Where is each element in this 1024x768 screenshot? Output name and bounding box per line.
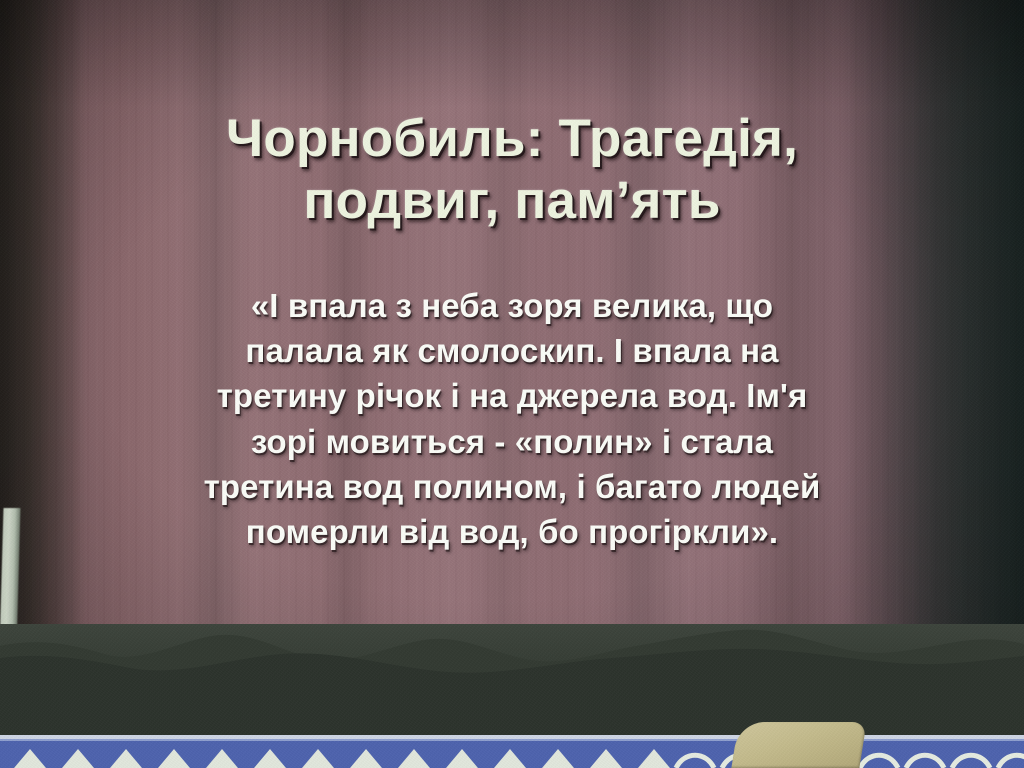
page-title: Чорнобиль: Трагедія, подвиг, пам’ять: [0, 108, 1024, 232]
quote-block: «І впала з неба зоря велика, що палала я…: [0, 283, 1024, 554]
quote-line: померли від вод, бо прогіркли».: [0, 509, 1024, 554]
quote-line: третина вод полином, і багато людей: [0, 464, 1024, 509]
curtain-hem-band: [0, 624, 1024, 736]
quote-line: зорі мовиться - «полин» і стала: [0, 419, 1024, 464]
quote-line: «І впала з неба зоря велика, що: [0, 283, 1024, 328]
blue-decorative-border: [0, 735, 1024, 768]
quote-line: палала як смолоскип. І впала на: [0, 328, 1024, 373]
title-line: подвиг, пам’ять: [0, 170, 1024, 232]
projected-slide-photo: Чорнобиль: Трагедія, подвиг, пам’ять «І …: [0, 0, 1024, 768]
title-line: Чорнобиль: Трагедія,: [0, 108, 1024, 170]
quote-line: третину річок і на джерела вод. Ім'я: [0, 373, 1024, 418]
tan-foreground-object: [731, 722, 866, 768]
